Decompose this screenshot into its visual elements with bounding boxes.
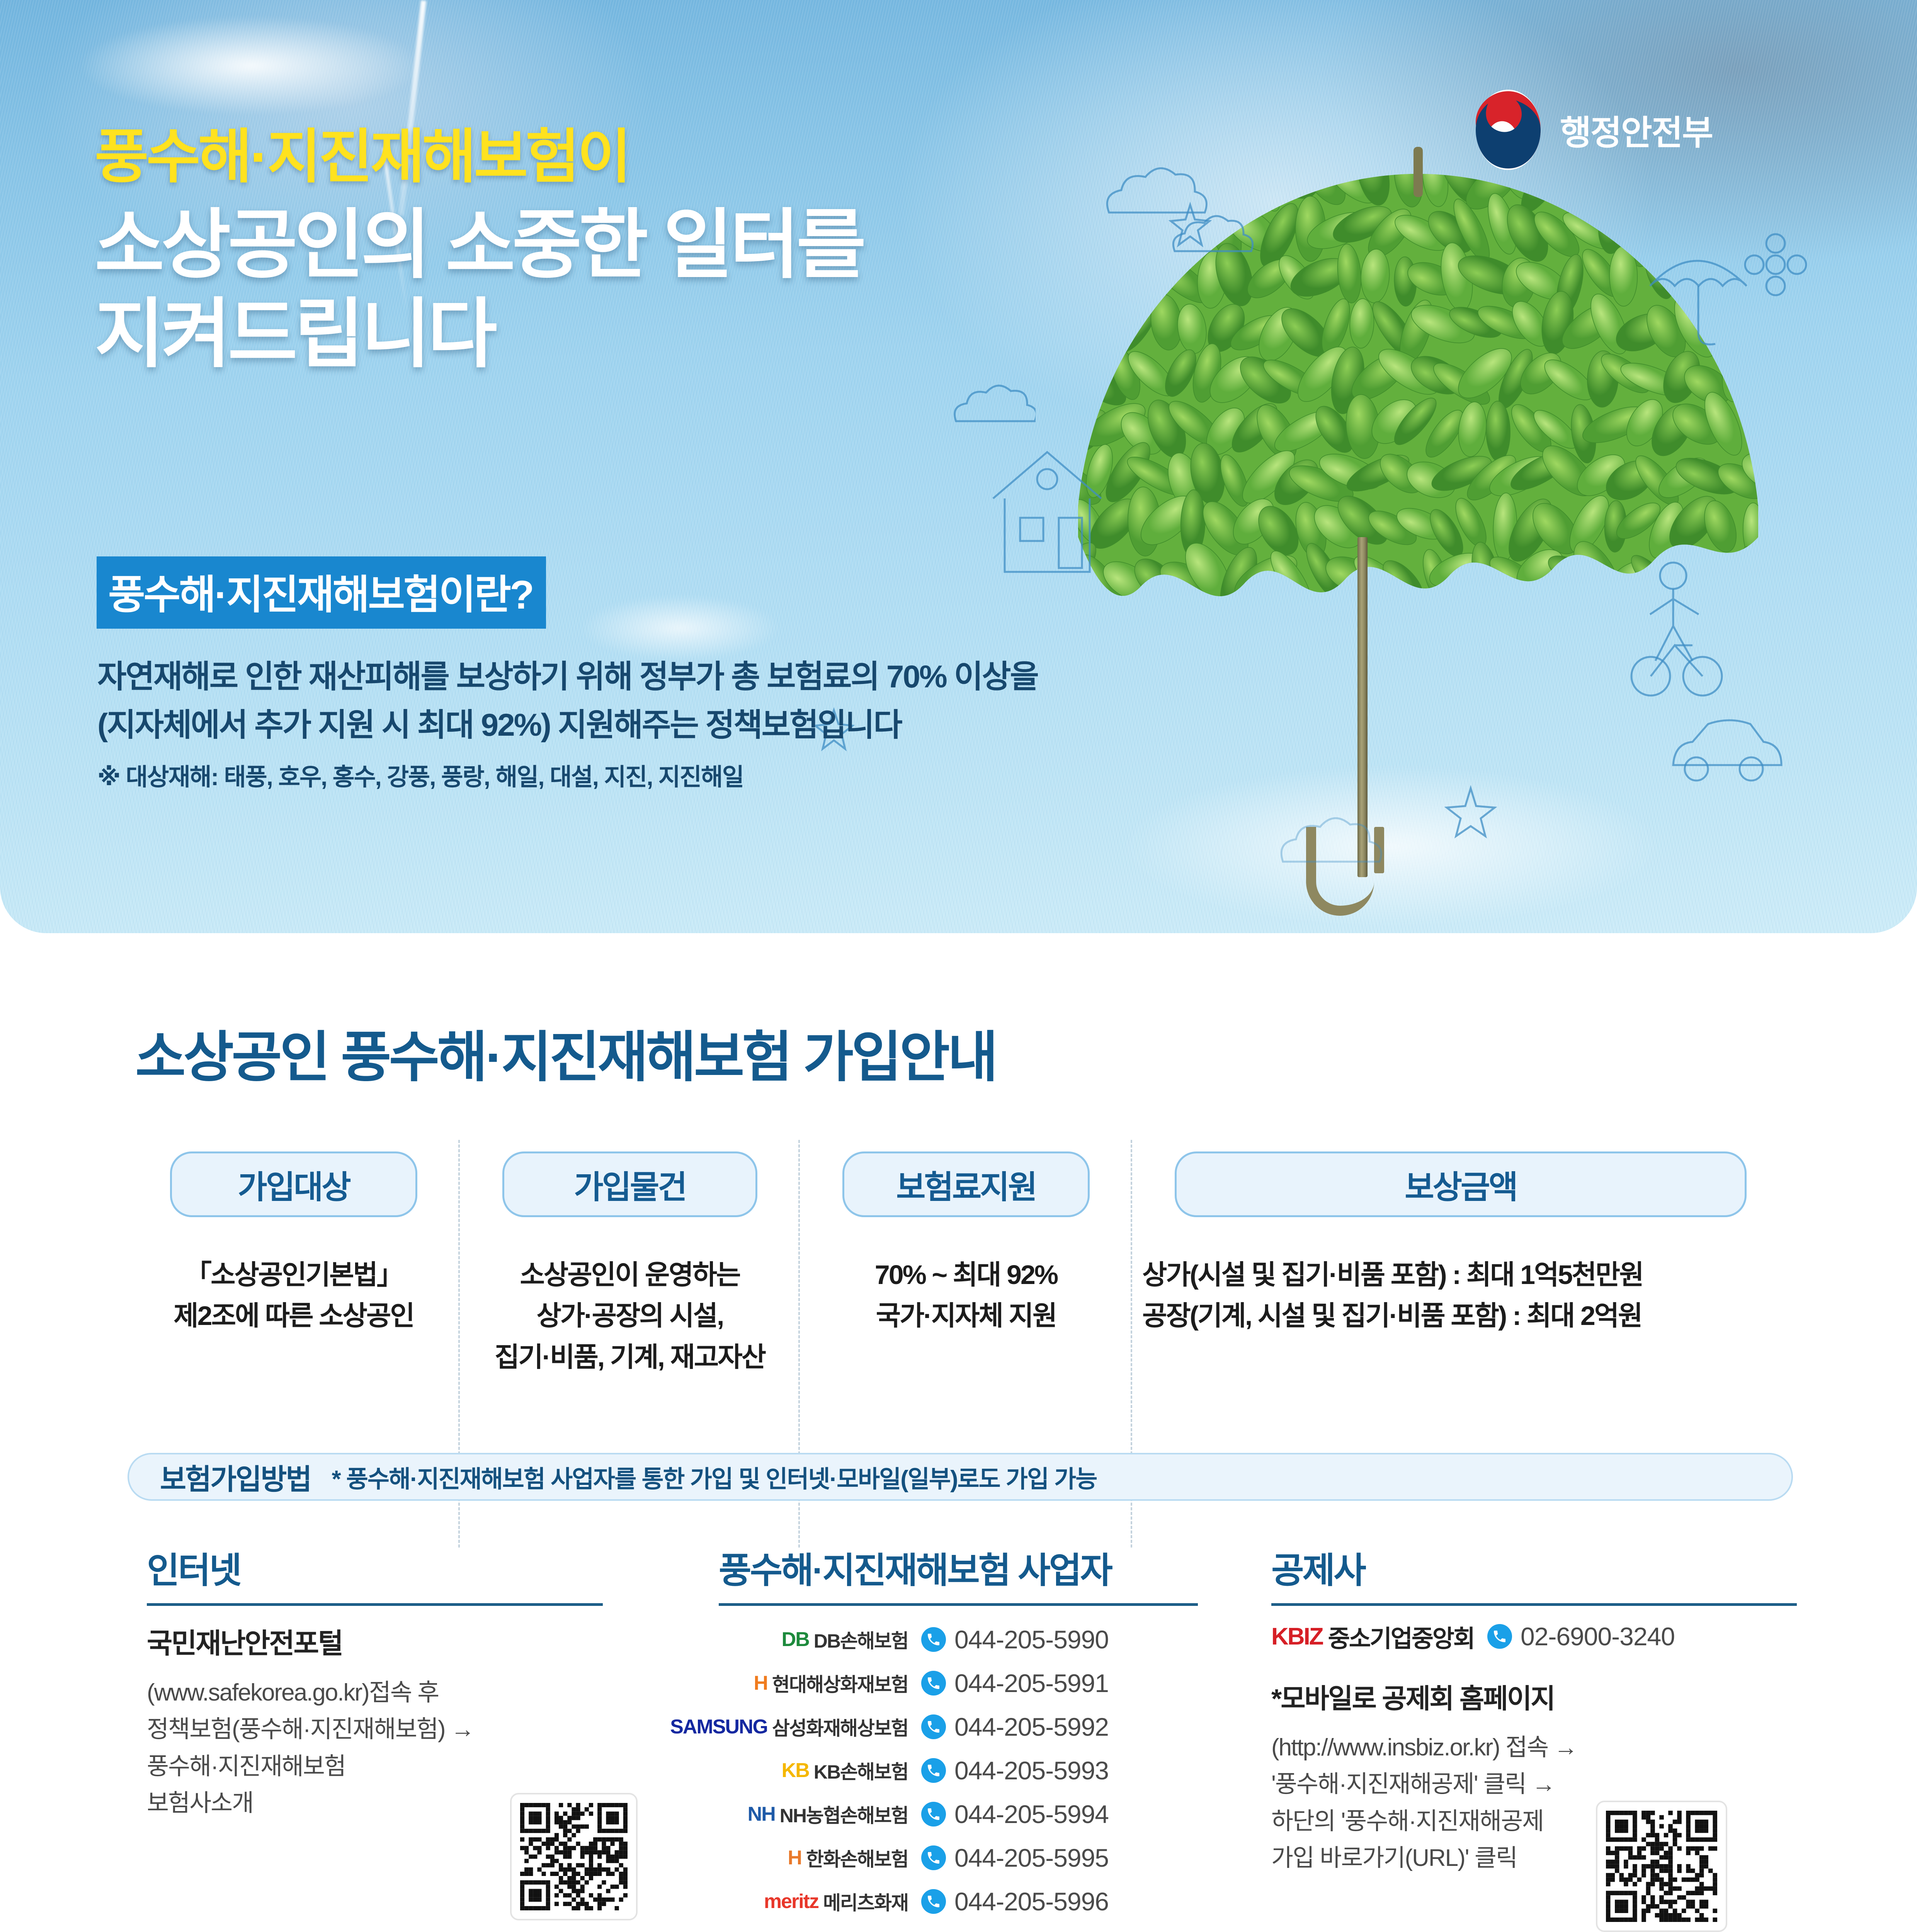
insurer-logo: meritz메리츠화재 <box>719 1888 908 1915</box>
instruction-line: (http://www.insbiz.or.kr) 접속 → <box>1271 1729 1797 1766</box>
phone-icon <box>921 1845 946 1870</box>
card-body: 「소상공인기본법」 제2조에 따른 소상공인 <box>128 1254 460 1337</box>
phone-icon <box>1487 1624 1512 1649</box>
card-enrollment-target: 가입대상 「소상공인기본법」 제2조에 따른 소상공인 <box>128 1151 460 1378</box>
instruction-line: 풍수해·지진재해보험 <box>147 1748 603 1785</box>
instruction-line: (www.safekorea.go.kr)접속 후 <box>147 1674 603 1711</box>
card-line: 집기·비품, 기계, 재고자산 <box>460 1337 800 1378</box>
card-pill-label: 가입물건 <box>502 1151 757 1217</box>
insurer-logo: NHNH농협손해보험 <box>719 1800 908 1828</box>
hero-banner: 행정안전부 <box>0 0 1917 933</box>
enrollment-method-bar: 보험가입방법 * 풍수해·지진재해보험 사업자를 통한 가입 및 인터넷·모바일… <box>128 1453 1793 1501</box>
card-line: 70% ~ 최대 92% <box>800 1254 1132 1295</box>
card-pill-label: 보험료지원 <box>842 1151 1090 1217</box>
star-doodle-icon <box>1441 784 1511 854</box>
insurer-row: SAMSUNG삼성화재해상보험044-205-5992 <box>719 1705 1198 1748</box>
insurer-logo: DBDB손해보험 <box>719 1626 908 1653</box>
insurer-row: meritz메리츠화재044-205-5996 <box>719 1879 1198 1923</box>
kbiz-phone-number[interactable]: 02-6900-3240 <box>1521 1622 1675 1651</box>
card-body: 70% ~ 최대 92% 국가·지자체 지원 <box>800 1254 1132 1337</box>
channel-insurers: 풍수해·지진재해보험 사업자 DBDB손해보험044-205-5990H현대해상… <box>719 1542 1198 1923</box>
covered-disasters-note: ※ 대상재해: 태풍, 호우, 홍수, 강풍, 풍랑, 해일, 대설, 지진, … <box>97 759 1038 796</box>
insurer-phone-number[interactable]: 044-205-5993 <box>954 1756 1109 1785</box>
insurer-logo: H한화손해보험 <box>719 1844 908 1872</box>
flower-doodle-icon <box>1739 228 1812 301</box>
qr-code-safekorea[interactable] <box>510 1793 638 1920</box>
insurer-row: H현대해상화재보험044-205-5991 <box>719 1661 1198 1705</box>
enrollment-cards: 가입대상 「소상공인기본법」 제2조에 따른 소상공인 가입물건 소상공인이 운… <box>128 1151 1793 1378</box>
card-line: 국가·지자체 지원 <box>800 1295 1132 1336</box>
hero-headline: 풍수해·지진재해보험이 소상공인의 소중한 일터를 지켜드립니다 <box>95 128 863 379</box>
phone-icon <box>921 1671 946 1696</box>
channel-rule <box>147 1603 603 1606</box>
channel-title: 공제사 <box>1271 1542 1797 1593</box>
phone-icon <box>921 1802 946 1827</box>
insurer-logo: KBKB손해보험 <box>719 1757 908 1784</box>
channel-title: 풍수해·지진재해보험 사업자 <box>719 1542 1198 1593</box>
card-line: 상가·공장의 시설, <box>460 1295 800 1336</box>
insurer-row: DBDB손해보험044-205-5990 <box>719 1617 1198 1661</box>
channel-title: 인터넷 <box>147 1542 603 1593</box>
card-pill-label: 가입대상 <box>170 1151 417 1217</box>
card-body: 상가(시설 및 집기·비품 포함) : 최대 1억5천만원 공장(기계, 시설 … <box>1132 1254 1789 1337</box>
phone-icon <box>921 1758 946 1783</box>
cloud-wisp <box>580 595 781 661</box>
phone-icon <box>921 1627 946 1652</box>
insurer-name: DB손해보험 <box>814 1626 908 1653</box>
kbiz-org-name: 중소기업중앙회 <box>1328 1619 1474 1654</box>
qr-code-insbiz[interactable] <box>1596 1801 1727 1932</box>
description-line-1: 자연재해로 인한 재산피해를 보상하기 위해 정부가 총 보험료의 70% 이상… <box>97 653 1038 701</box>
portal-name: 국민재난안전포털 <box>147 1621 603 1661</box>
insurer-phone-number[interactable]: 044-205-5996 <box>954 1887 1109 1916</box>
car-doodle-icon <box>1665 711 1793 804</box>
insurer-logo: SAMSUNG삼성화재해상보험 <box>719 1713 908 1741</box>
card-line: 제2조에 따른 소상공인 <box>128 1295 460 1336</box>
channel-internet: 인터넷 국민재난안전포털 (www.safekorea.go.kr)접속 후 정… <box>147 1542 603 1822</box>
headline-main-line2: 지켜드립니다 <box>95 289 863 379</box>
insurer-name: 메리츠화재 <box>823 1888 908 1915</box>
card-line: 소상공인이 운영하는 <box>460 1254 800 1295</box>
phone-icon <box>921 1889 946 1914</box>
insurer-row: H한화손해보험044-205-5995 <box>719 1836 1198 1879</box>
insurer-name: 한화손해보험 <box>806 1844 908 1872</box>
instruction-line: 정책보험(풍수해·지진재해보험) → <box>147 1711 603 1748</box>
card-premium-subsidy: 보험료지원 70% ~ 최대 92% 국가·지자체 지원 <box>800 1151 1132 1378</box>
insurer-logo: H현대해상화재보험 <box>719 1669 908 1697</box>
cloud-doodle-icon <box>1275 808 1430 893</box>
card-body: 소상공인이 운영하는 상가·공장의 시설, 집기·비품, 기계, 재고자산 <box>460 1254 800 1378</box>
section-enrollment-title: 소상공인 풍수해·지진재해보험 가입안내 <box>135 1012 996 1092</box>
insurer-list: DBDB손해보험044-205-5990H현대해상화재보험044-205-599… <box>719 1617 1198 1923</box>
insurer-phone-number[interactable]: 044-205-5995 <box>954 1843 1109 1872</box>
card-line: 상가(시설 및 집기·비품 포함) : 최대 1억5천만원 <box>1142 1254 1789 1295</box>
kbiz-logo: KBIZ <box>1271 1623 1323 1650</box>
insurer-phone-number[interactable]: 044-205-5991 <box>954 1668 1109 1698</box>
insurer-phone-number[interactable]: 044-205-5990 <box>954 1625 1109 1654</box>
insurer-name: 현대해상화재보험 <box>772 1669 908 1697</box>
person-bicycle-doodle-icon <box>1627 553 1754 715</box>
phone-icon <box>921 1714 946 1739</box>
card-coverage-amount: 보상금액 상가(시설 및 집기·비품 포함) : 최대 1억5천만원 공장(기계… <box>1132 1151 1789 1378</box>
instruction-line: '풍수해·지진재해공제' 클릭 → <box>1271 1766 1797 1803</box>
insurer-phone-number[interactable]: 044-205-5992 <box>954 1712 1109 1742</box>
mobile-note-title: *모바일로 공제회 홈페이지 <box>1271 1677 1797 1716</box>
card-covered-property: 가입물건 소상공인이 운영하는 상가·공장의 시설, 집기·비품, 기계, 재고… <box>460 1151 800 1378</box>
headline-main: 소상공인의 소중한 일터를 지켜드립니다 <box>95 200 863 379</box>
insurer-phone-number[interactable]: 044-205-5994 <box>954 1799 1109 1829</box>
cloud-doodle-icon <box>951 383 1036 440</box>
channel-rule <box>1271 1603 1797 1606</box>
card-line: 공장(기계, 시설 및 집기·비품 포함) : 최대 2억원 <box>1142 1295 1789 1336</box>
insurer-row: KBKB손해보험044-205-5993 <box>719 1748 1198 1792</box>
method-label: 보험가입방법 <box>160 1456 311 1498</box>
house-doodle-icon <box>978 421 1148 591</box>
kbiz-contact-row: KBIZ 중소기업중앙회 02-6900-3240 <box>1271 1619 1797 1654</box>
insurer-row: NHNH농협손해보험044-205-5994 <box>719 1792 1198 1836</box>
insurer-name: KB손해보험 <box>814 1757 908 1784</box>
method-note: * 풍수해·지진재해보험 사업자를 통한 가입 및 인터넷·모바일(일부)로도 … <box>332 1459 1097 1494</box>
card-line: 「소상공인기본법」 <box>128 1254 460 1295</box>
what-is-badge: 풍수해·지진재해보험이란? <box>97 556 546 629</box>
cloud-wisp <box>77 15 425 116</box>
insurer-name: NH농협손해보험 <box>780 1800 908 1828</box>
star-doodle-icon <box>1167 201 1225 259</box>
headline-accent: 풍수해·지진재해보험이 <box>95 128 863 186</box>
card-pill-label: 보상금액 <box>1175 1151 1747 1217</box>
headline-main-line1: 소상공인의 소중한 일터를 <box>95 200 863 289</box>
insurer-name: 삼성화재해상보험 <box>772 1713 908 1741</box>
hero-description: 자연재해로 인한 재산피해를 보상하기 위해 정부가 총 보험료의 70% 이상… <box>97 653 1038 796</box>
channel-rule <box>719 1603 1198 1606</box>
description-line-2: (지자체에서 추가 지원 시 최대 92%) 지원해주는 정책보험입니다 <box>97 701 1038 750</box>
